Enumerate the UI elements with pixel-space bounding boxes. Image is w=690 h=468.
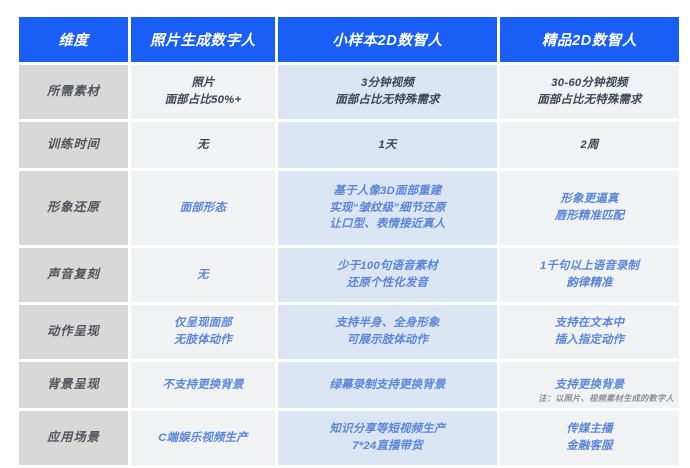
dimension-label: 声音复刻 [19, 248, 128, 302]
cell-photo: 照片 面部占比50%+ [131, 65, 275, 119]
cell-premium: 30-60分钟视频 面部占比无特殊需求 [500, 65, 679, 119]
cell-premium: 2周 [500, 122, 679, 168]
cell-small-sample: 基于人像3D面部重建 实现“皱纹级”细节还原 让口型、表情接近真人 [278, 171, 497, 245]
dimension-label: 动作呈现 [19, 305, 128, 359]
table-footnote: 注：以照片、视频素材生成的数字人 [538, 392, 674, 404]
comparison-sheet: 维度 照片生成数字人 小样本2D数智人 精品2D数智人 所需素材照片 面部占比5… [0, 0, 690, 415]
cell-photo: 无 [131, 122, 275, 168]
table-row: 训练时间无1天2周 [19, 122, 679, 168]
cell-premium: 形象更逼真 唇形精准匹配 [500, 171, 679, 245]
cell-photo: C端娱乐视频生产 [131, 411, 275, 465]
cell-small-sample: 3分钟视频 面部占比无特殊需求 [278, 65, 497, 119]
cell-small-sample: 少于100句语音素材 还原个性化发音 [278, 248, 497, 302]
cell-small-sample: 1天 [278, 122, 497, 168]
cell-small-sample: 支持半身、全身形象 可展示肢体动作 [278, 305, 497, 359]
cell-photo: 面部形态 [131, 171, 275, 245]
cell-premium: 传媒主播 金融客服 [500, 411, 679, 465]
cell-photo: 不支持更换背景 [131, 362, 275, 408]
column-header-dimension: 维度 [19, 17, 128, 62]
table-row: 所需素材照片 面部占比50%+3分钟视频 面部占比无特殊需求30-60分钟视频 … [19, 65, 679, 119]
column-header-small-sample: 小样本2D数智人 [278, 17, 497, 62]
cell-small-sample: 绿幕录制支持更换背景 [278, 362, 497, 408]
table-row: 声音复刻无少于100句语音素材 还原个性化发音1千句以上语音录制 韵律精准 [19, 248, 679, 302]
table-row: 形象还原面部形态基于人像3D面部重建 实现“皱纹级”细节还原 让口型、表情接近真… [19, 171, 679, 245]
dimension-label: 应用场景 [19, 411, 128, 465]
column-header-photo: 照片生成数字人 [131, 17, 275, 62]
dimension-label: 训练时间 [19, 122, 128, 168]
cell-premium: 支持在文本中 插入指定动作 [500, 305, 679, 359]
table-header-row: 维度 照片生成数字人 小样本2D数智人 精品2D数智人 [19, 17, 679, 62]
dimension-label: 背景呈现 [19, 362, 128, 408]
cell-photo: 仅呈现面部 无肢体动作 [131, 305, 275, 359]
dimension-label: 形象还原 [19, 171, 128, 245]
cell-premium: 1千句以上语音录制 韵律精准 [500, 248, 679, 302]
cell-small-sample: 知识分享等短视频生产 7*24直播带货 [278, 411, 497, 465]
column-header-premium: 精品2D数智人 [500, 17, 679, 62]
table-body: 所需素材照片 面部占比50%+3分钟视频 面部占比无特殊需求30-60分钟视频 … [19, 65, 679, 465]
table-row: 应用场景C端娱乐视频生产知识分享等短视频生产 7*24直播带货传媒主播 金融客服 [19, 411, 679, 465]
table-header: 维度 照片生成数字人 小样本2D数智人 精品2D数智人 [19, 17, 679, 62]
cell-photo: 无 [131, 248, 275, 302]
dimension-label: 所需素材 [19, 65, 128, 119]
table-row: 动作呈现仅呈现面部 无肢体动作支持半身、全身形象 可展示肢体动作支持在文本中 插… [19, 305, 679, 359]
